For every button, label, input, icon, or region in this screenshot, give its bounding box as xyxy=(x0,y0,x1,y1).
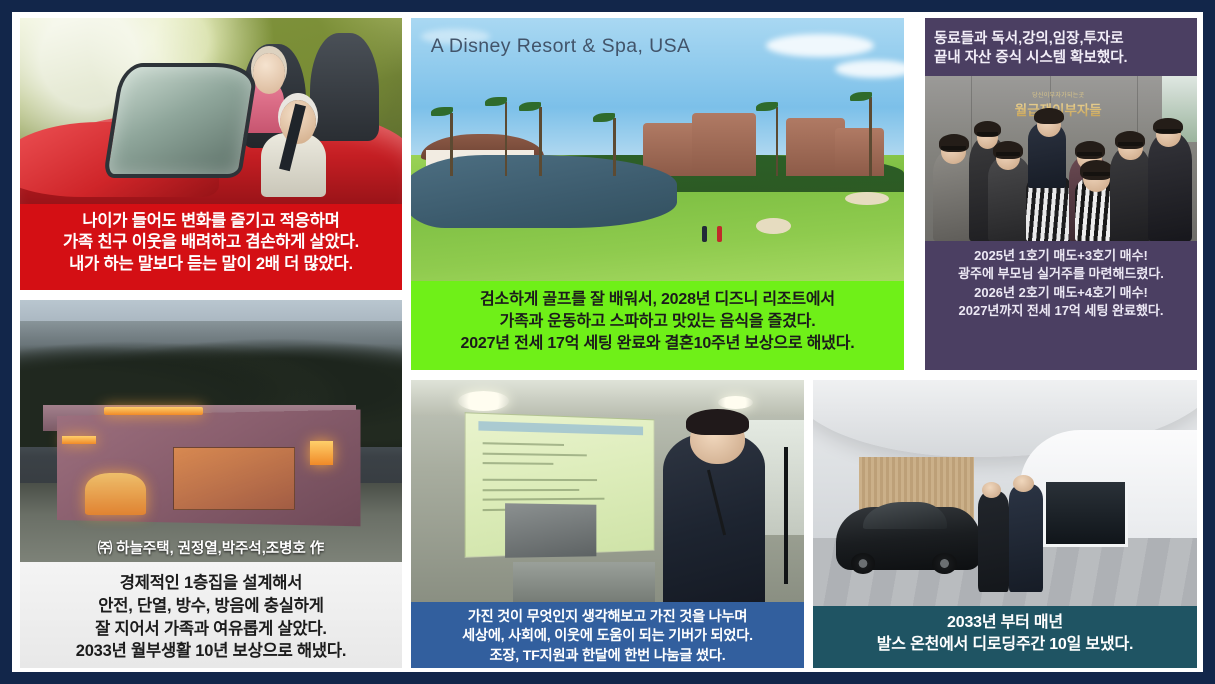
vision-board: 나이가 들어도 변화를 즐기고 적응하며 가족 친구 이웃을 배려하고 겸손하게… xyxy=(12,12,1203,672)
colleagues-caption-bottom: 2025년 1호기 매도+3호기 매수! 광주에 부모님 실거주를 마련해드렸다… xyxy=(925,241,1197,328)
resort-overlay-title: A Disney Resort & Spa, USA xyxy=(431,35,691,58)
lecture-photo xyxy=(411,380,804,602)
panel-resort[interactable]: A Disney Resort & Spa, USA 검소하게 골프를 잘 배워… xyxy=(411,18,904,370)
colleagues-caption-top: 동료들과 독서,강의,임장,투자로 끝내 자산 증식 시스템 확보했다. xyxy=(925,18,1197,76)
panel-house[interactable]: ㈜ 하늘주택, 권정열,박주석,조병호 作 경제적인 1층집을 설계해서 안전,… xyxy=(20,300,402,668)
lecture-caption: 가진 것이 무엇인지 생각해보고 가진 것을 나누며 세상에, 사회에, 이웃에… xyxy=(411,602,804,668)
convertible-caption: 나이가 들어도 변화를 즐기고 적응하며 가족 친구 이웃을 배려하고 겸손하게… xyxy=(20,204,402,290)
panel-colleagues[interactable]: 동료들과 독서,강의,임장,투자로 끝내 자산 증식 시스템 확보했다. 당신이… xyxy=(925,18,1197,370)
convertible-photo xyxy=(20,18,402,204)
valet-caption: 2033년 부터 매년 발스 온천에서 디로딩주간 10일 보냈다. xyxy=(813,606,1197,668)
resort-photo: A Disney Resort & Spa, USA xyxy=(411,18,904,281)
colleagues-photo: 당신이부자가되는곳 월급쟁이부자들 xyxy=(925,76,1197,241)
valet-photo xyxy=(813,380,1197,606)
panel-lecture[interactable]: 가진 것이 무엇인지 생각해보고 가진 것을 나누며 세상에, 사회에, 이웃에… xyxy=(411,380,804,668)
house-watermark: ㈜ 하늘주택, 권정열,박주석,조병호 作 xyxy=(20,537,402,558)
resort-caption: 검소하게 골프를 잘 배워서, 2028년 디즈니 리조트에서 가족과 운동하고… xyxy=(411,281,904,370)
panel-convertible[interactable]: 나이가 들어도 변화를 즐기고 적응하며 가족 친구 이웃을 배려하고 겸손하게… xyxy=(20,18,402,290)
house-caption: 경제적인 1층집을 설계해서 안전, 단열, 방수, 방음에 충실하게 잘 지어… xyxy=(20,562,402,668)
house-photo: ㈜ 하늘주택, 권정열,박주석,조병호 作 xyxy=(20,300,402,562)
panel-valet[interactable]: 2033년 부터 매년 발스 온천에서 디로딩주간 10일 보냈다. xyxy=(813,380,1197,668)
